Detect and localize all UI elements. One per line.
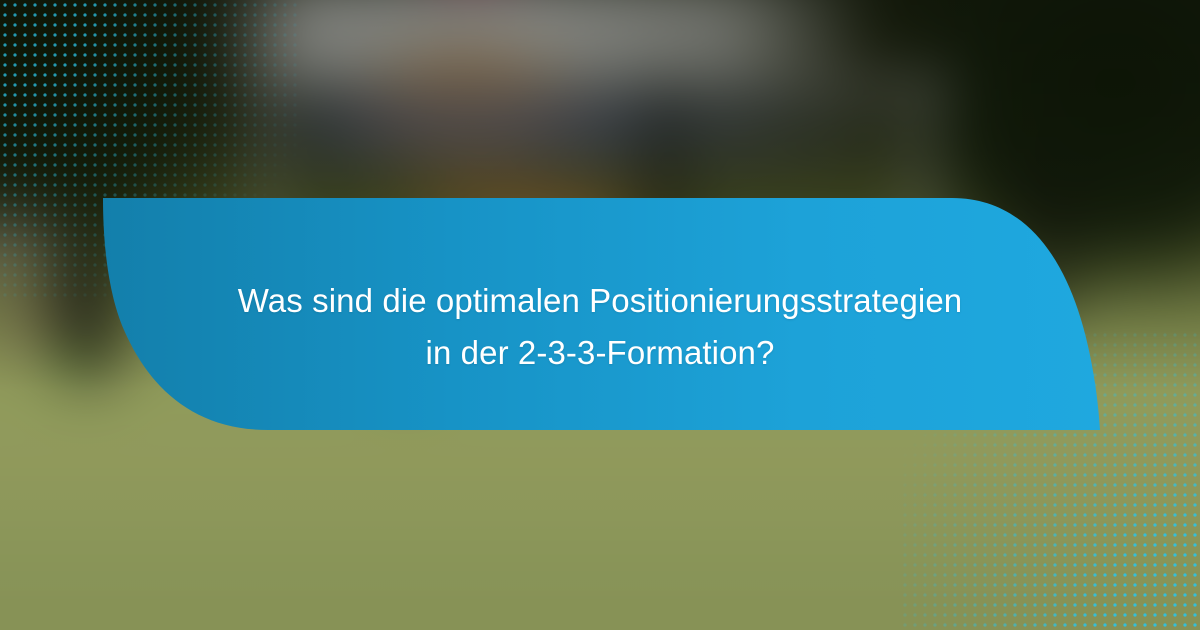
social-card: Was sind die optimalen Positionierungsst… [0,0,1200,630]
banner-title-line-1: Was sind die optimalen Positionierungsst… [150,275,1050,327]
banner-title-line-2: in der 2-3-3-Formation? [150,327,1050,379]
banner-title: Was sind die optimalen Positionierungsst… [150,275,1050,379]
